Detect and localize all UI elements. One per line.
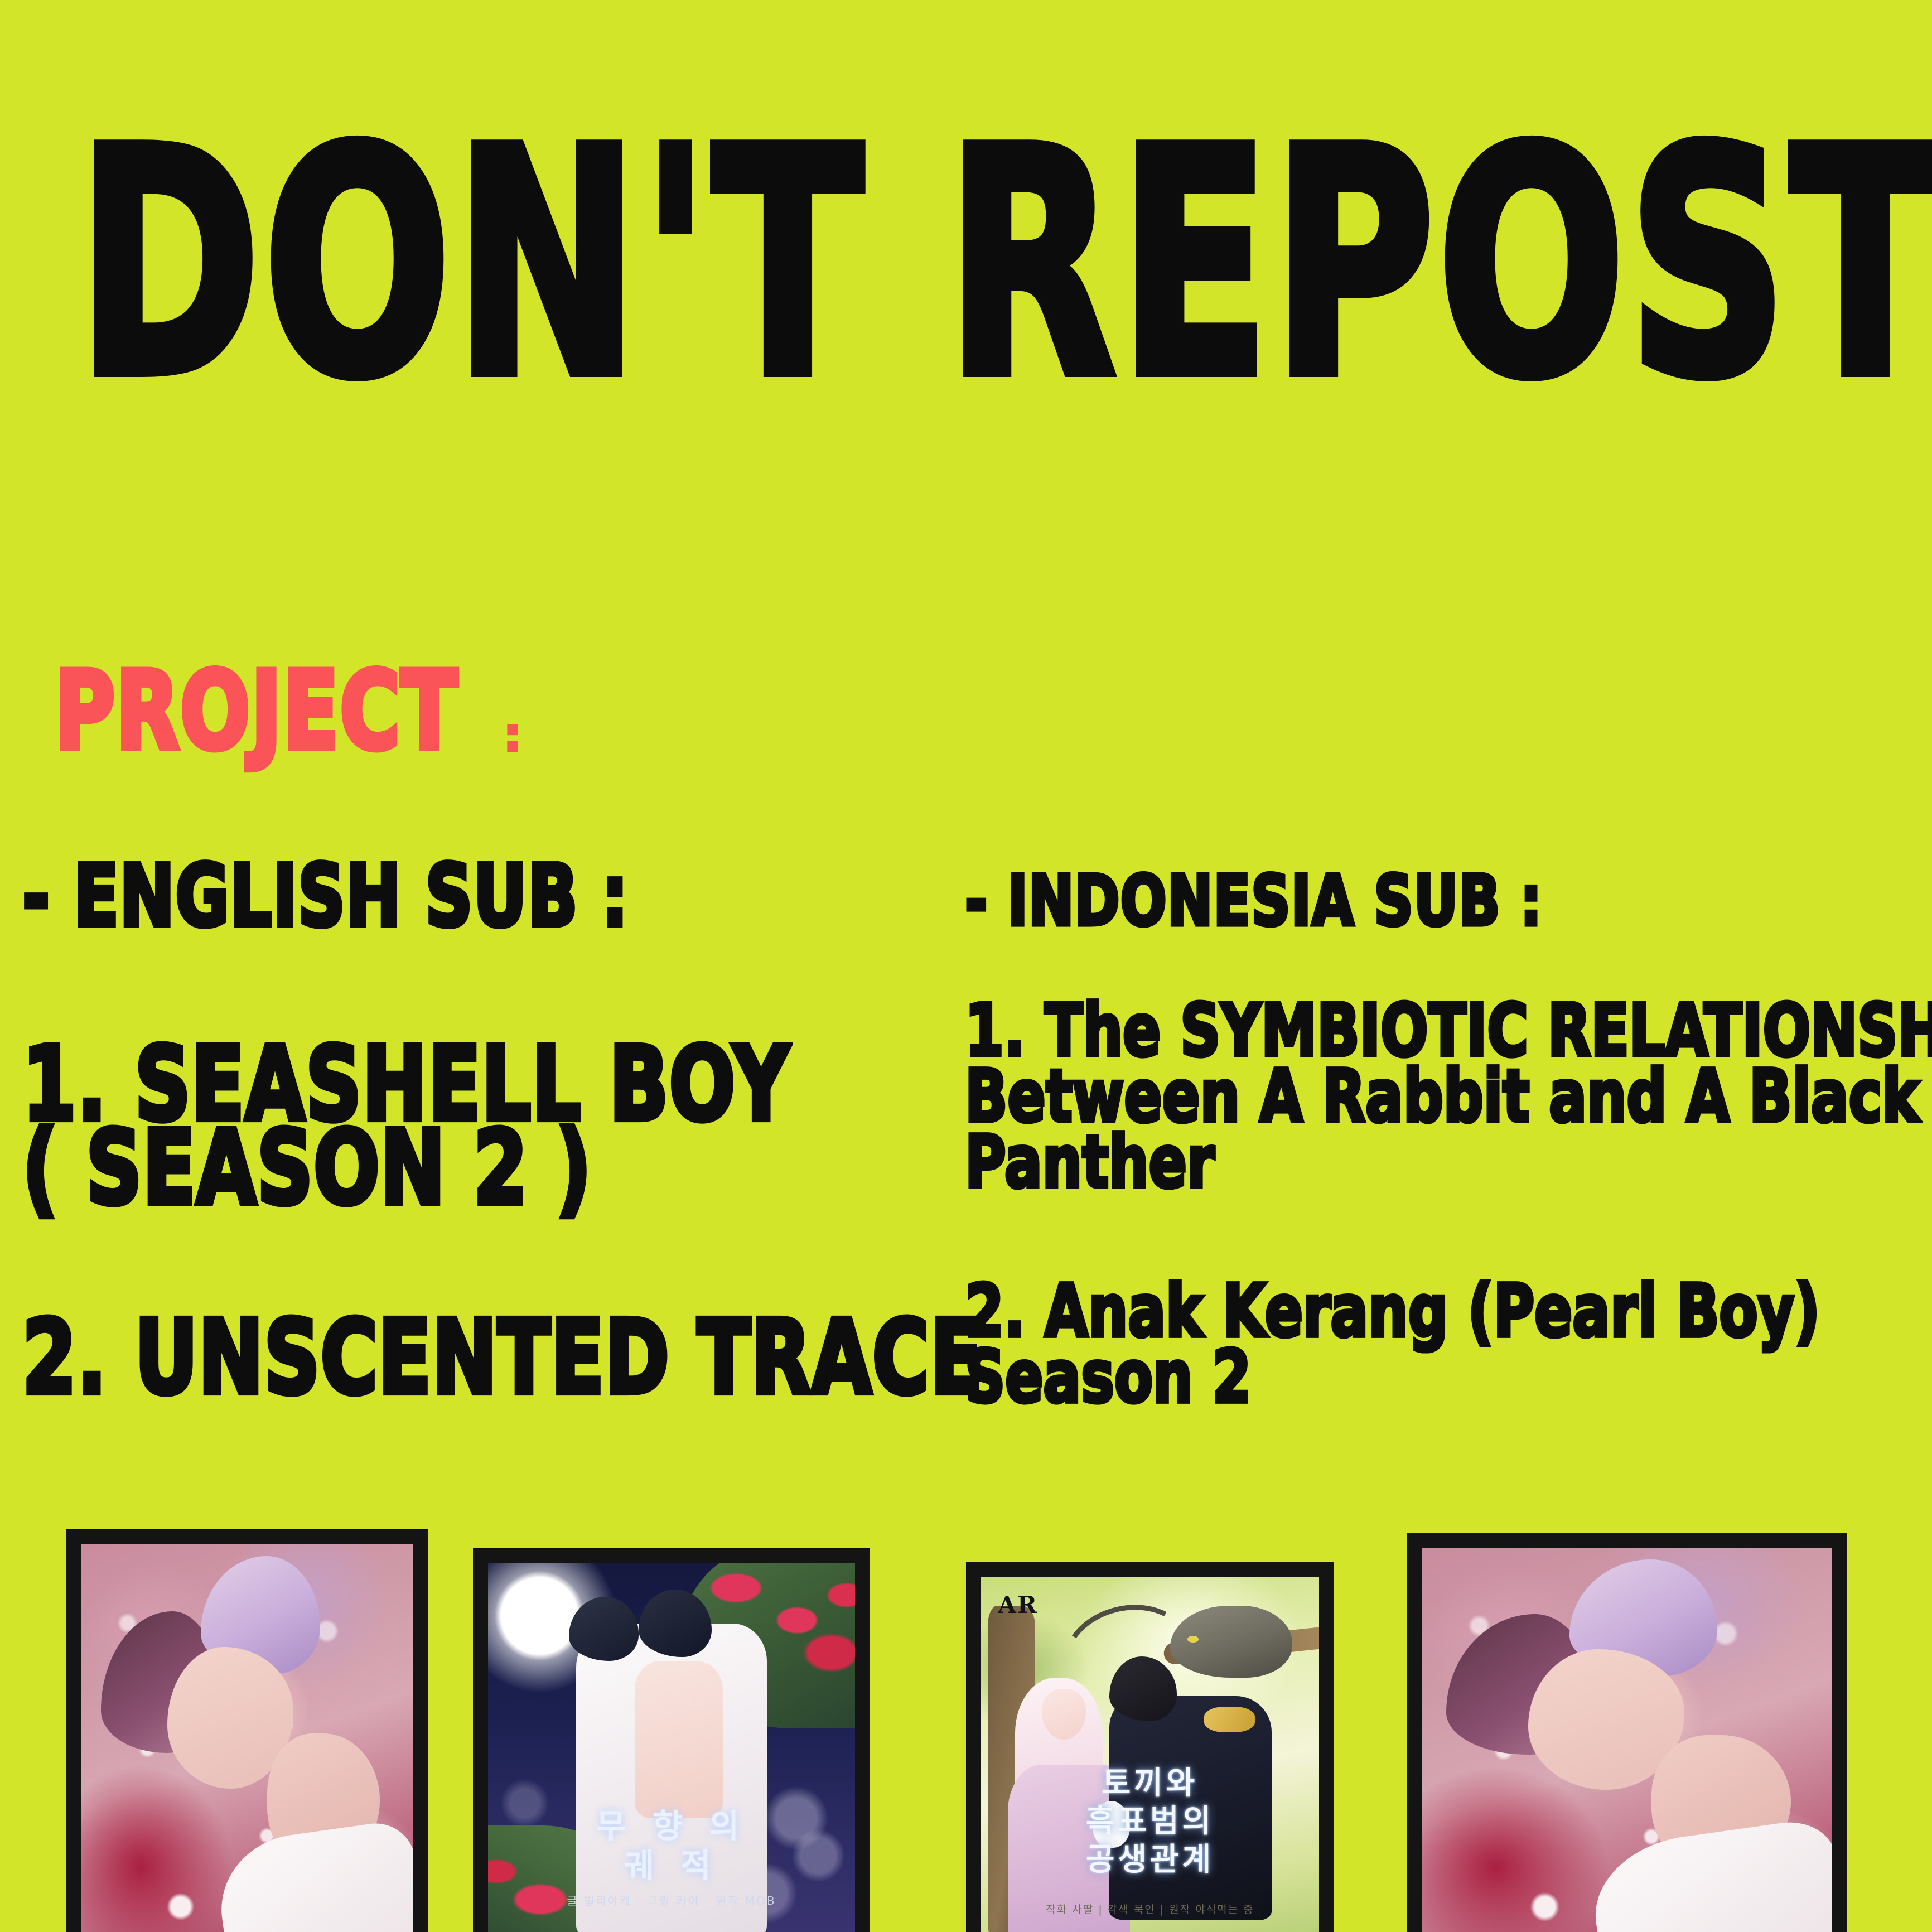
spacer — [965, 931, 1932, 998]
thumbnail-symbiotic-relationship[interactable]: AR 토끼와흑표범의공생관계 작화 사딸 | 각색 북인 | 원작 야식먹는 중 — [966, 1562, 1334, 1932]
cover-korean-title: 무 향 의궤 적 — [488, 1807, 855, 1886]
project-colon: : — [503, 711, 522, 765]
indonesia-sub-heading-colon: : — [1520, 860, 1543, 941]
thumbnail-pearl-boy[interactable] — [1407, 1533, 1847, 1932]
character-head-left — [569, 1597, 639, 1660]
cover-art-pearl — [81, 1544, 413, 1932]
english-sub-heading-text: - ENGLISH SUB — [22, 846, 578, 946]
thumbnail-image-area: AR 토끼와흑표범의공생관계 작화 사딸 | 각색 북인 | 원작 야식먹는 중 — [981, 1577, 1319, 1932]
thumbnail-seashell-boy[interactable] — [66, 1529, 428, 1932]
cover-art-night: 무 향 의궤 적 글 빌리아케 · 그림 카야 · 원작 MOB — [488, 1563, 855, 1932]
english-sub-column: - ENGLISH SUB : 1. SEASHELL BOY ( SEASON… — [22, 859, 937, 1400]
english-sub-heading-colon: : — [602, 846, 629, 946]
page-title: DON'T REPOST !! — [78, 109, 1855, 421]
thumbnail-image-area — [81, 1544, 413, 1932]
english-item-1-season: ( SEASON 2 ) — [22, 1117, 873, 1219]
spacer — [965, 1195, 1932, 1279]
gold-epaulette — [1204, 1707, 1255, 1732]
black-panther — [1170, 1606, 1292, 1678]
cover-korean-title: 토끼와흑표범의공생관계 — [981, 1765, 1319, 1879]
cover-art-pearl — [1422, 1548, 1832, 1932]
project-heading: PROJECT : — [55, 678, 522, 765]
indonesia-sub-column: - INDONESIA SUB : 1. The SYMBIOTIC RELAT… — [965, 870, 1932, 1411]
thumbnail-unscented-trace[interactable]: 무 향 의궤 적 글 빌리아케 · 그림 카야 · 원작 MOB — [473, 1548, 870, 1932]
english-sub-heading: - ENGLISH SUB : — [22, 851, 882, 941]
indonesia-sub-heading-text: - INDONESIA SUB — [965, 860, 1501, 941]
character-shirt — [212, 1819, 413, 1932]
indonesia-item-2-line2: Season 2 — [965, 1338, 1867, 1417]
character-shirt — [1586, 1816, 1832, 1932]
cover-korean-credit: 작화 사딸 | 각색 북인 | 원작 야식먹는 중 — [981, 1901, 1319, 1916]
thumbnail-image-area — [1422, 1548, 1832, 1932]
indonesia-sub-heading: - INDONESIA SUB : — [965, 864, 1877, 938]
thumbnail-image-area: 무 향 의궤 적 글 빌리아케 · 그림 카야 · 원작 MOB — [488, 1563, 855, 1932]
indonesia-item-1-line3: Panther — [965, 1123, 1867, 1202]
english-item-2-title: 2. UNSCENTED TRACE — [22, 1307, 873, 1409]
cover-korean-credit: 글 빌리아케 · 그림 카야 · 원작 MOB — [488, 1892, 855, 1908]
character-torso — [635, 1661, 723, 1818]
poster-canvas: DON'T REPOST !! PROJECT : - ENGLISH SUB … — [0, 0, 1932, 1932]
cover-art-forest: AR 토끼와흑표범의공생관계 작화 사딸 | 각색 북인 | 원작 야식먹는 중 — [981, 1577, 1319, 1932]
project-label: PROJECT — [55, 658, 458, 765]
publisher-logo: AR — [998, 1591, 1038, 1619]
